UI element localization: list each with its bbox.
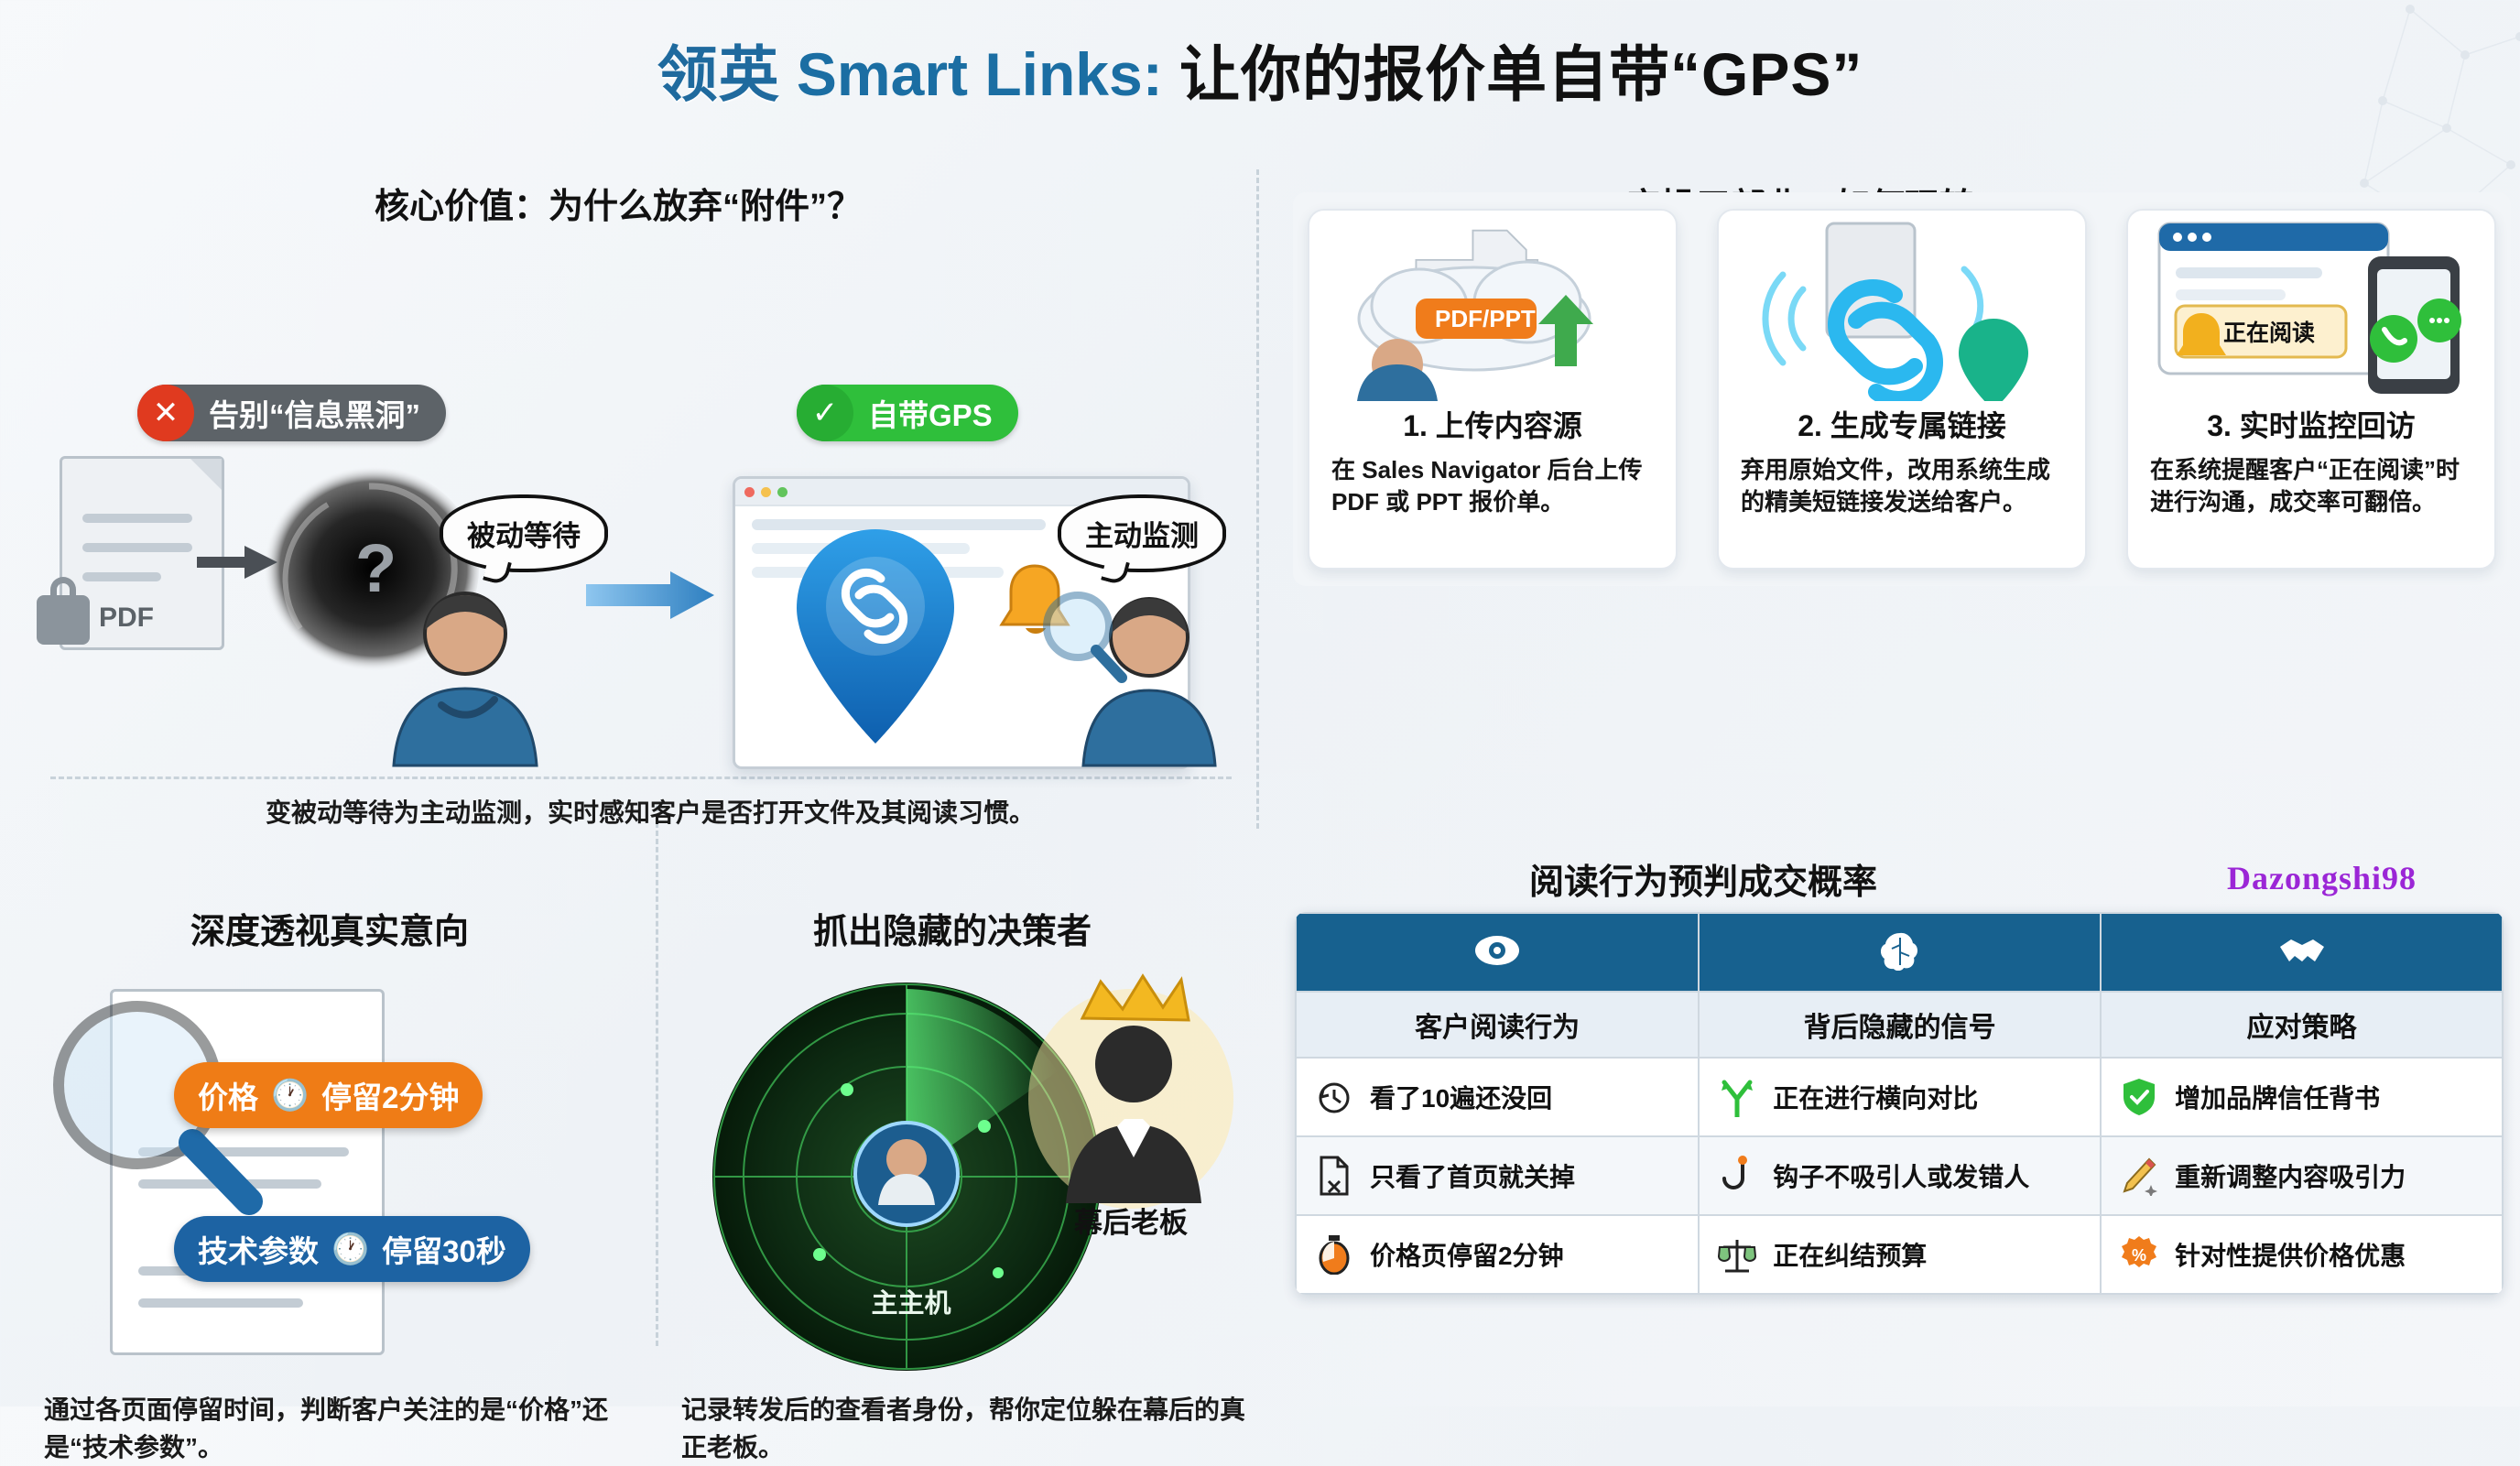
fork-path-icon — [1716, 1076, 1758, 1118]
step-3-illustration: 正在阅读 — [2128, 211, 2494, 401]
table-title: 阅读行为预判成交概率 — [1337, 853, 2069, 904]
cell-text: 看了10遍还没回 — [1370, 1079, 1552, 1115]
step-1-title: 1. 上传内容源 — [1309, 403, 1676, 445]
badge-built-in-gps: ✓ 自带GPS — [797, 385, 1018, 441]
radar-center-label: 主主机 — [792, 1282, 1030, 1320]
cell-text: 重新调整内容吸引力 — [2175, 1157, 2406, 1194]
gps-pin-link-icon — [787, 522, 971, 751]
reading-behavior-table: 客户阅读行为 背后隐藏的信号 应对策略 看了10遍还没回 正在进行横向对比 — [1295, 912, 2504, 1295]
speech-bubble-passive: 被动等待 — [440, 494, 608, 572]
pill-spec-dwell: 技术参数 🕐 停留30秒 — [174, 1216, 530, 1282]
balance-scale-icon — [1716, 1233, 1758, 1276]
clock-icon: 🕐 — [271, 1078, 309, 1113]
left-section-header: 核心价值：为什么放弃“附件”？ — [37, 178, 1200, 228]
document-fold-corner — [190, 459, 222, 490]
badge-bad-label: 告别“信息黑洞” — [194, 391, 420, 435]
chain-link-icon — [1719, 211, 2089, 401]
column-header-strategy: 应对策略 — [2101, 992, 2503, 1058]
step-1-illustration: PDF/PPT — [1309, 211, 1676, 401]
lock-icon — [37, 595, 90, 645]
panel-left-caption: 通过各页面停留时间，判断客户关注的是“价格”还是“技术参数”。 — [44, 1392, 621, 1466]
column-header-signal: 背后隐藏的信号 — [1699, 992, 2101, 1058]
table-label-header-row: 客户阅读行为 背后隐藏的信号 应对策略 — [1296, 992, 2503, 1058]
clock-icon: 🕐 — [331, 1232, 369, 1267]
table-row: 只看了首页就关掉 钩子不吸引人或发错人 重新调整内容吸引力 — [1296, 1136, 2503, 1215]
vertical-divider-main — [1256, 169, 1259, 829]
cell-text: 正在进行横向对比 — [1773, 1079, 1978, 1115]
watermark: Dazongshi98 — [2227, 859, 2417, 897]
step-3-title: 3. 实时监控回访 — [2128, 403, 2494, 445]
hidden-boss-illustration — [1026, 961, 1236, 1227]
right-column: 实操三部曲：如何玩转 Smart Links PDF/PPT 1. 上传内容源 … — [1282, 110, 2520, 1406]
badge-good-label: 自带GPS — [853, 391, 993, 435]
person-waiting-illustration — [357, 586, 568, 769]
column-header-behavior: 客户阅读行为 — [1296, 992, 1699, 1058]
arrow-transition-icon — [586, 568, 714, 623]
bell-alert-icon: 正在阅读 — [2128, 211, 2498, 401]
speech-bubble-active: 主动监测 — [1058, 494, 1226, 572]
title-brand-en: Smart Links: — [780, 40, 1179, 108]
step-card-1[interactable]: PDF/PPT 1. 上传内容源 在 Sales Navigator 后台上传 … — [1308, 209, 1678, 570]
table-row: 价格页停留2分钟 正在纠结预算 % 针对性提供价格优惠 — [1296, 1215, 2503, 1294]
step-2-title: 2. 生成专属链接 — [1719, 403, 2085, 445]
cell-text: 针对性提供价格优惠 — [2175, 1236, 2406, 1273]
panel-left-header: 深度透视真实意向 — [37, 903, 623, 953]
title-rest: 让你的报价单自带“GPS” — [1179, 40, 1863, 108]
step-card-2[interactable]: 2. 生成专属链接 弃用原始文件，改用系统生成的精美短链接发送给客户。 — [1717, 209, 2087, 570]
arrow-right-icon — [197, 540, 279, 584]
person-monitoring-illustration — [1039, 586, 1245, 769]
stopwatch-icon — [1313, 1233, 1355, 1276]
badge-information-blackhole: ✕ 告别“信息黑洞” — [137, 385, 446, 441]
cell-text: 钩子不吸引人或发错人 — [1773, 1157, 2029, 1194]
steps-container: PDF/PPT 1. 上传内容源 在 Sales Navigator 后台上传 … — [1293, 192, 2511, 586]
step-3-desc: 在系统提醒客户“正在阅读”时进行沟通，成交率可翻倍。 — [2128, 445, 2494, 518]
step-2-desc: 弃用原始文件，改用系统生成的精美短链接发送给客户。 — [1719, 445, 2085, 518]
percent-badge-icon: % — [2118, 1233, 2160, 1276]
boss-label: 幕后老板 — [1016, 1200, 1245, 1241]
title-brand-cn: 领英 — [657, 40, 780, 108]
panel-right-caption: 记录转发后的查看者身份，帮你定位躲在幕后的真正老板。 — [681, 1392, 1249, 1466]
pill-price-metric: 停留2分钟 — [321, 1073, 459, 1117]
cloud-upload-icon: PDF/PPT — [1309, 211, 1679, 401]
pdf-label: PDF — [99, 603, 154, 634]
cell-text: 正在纠结预算 — [1773, 1236, 1927, 1273]
pill-spec-metric: 停留30秒 — [382, 1227, 506, 1271]
step-2-illustration — [1719, 211, 2085, 401]
step-card-3[interactable]: 正在阅读 3. 实时监控回访 在系统提醒客户“正在阅读”时进行沟通，成交率可翻倍… — [2126, 209, 2496, 570]
cell-text: 价格页停留2分钟 — [1370, 1236, 1564, 1273]
pill-price-label: 价格 — [198, 1073, 258, 1117]
table-row: 看了10遍还没回 正在进行横向对比 增加品牌信任背书 — [1296, 1058, 2503, 1136]
step-1-desc: 在 Sales Navigator 后台上传 PDF 或 PPT 报价单。 — [1309, 445, 1676, 518]
left-caption: 变被动等待为主动监测，实时感知客户是否打开文件及其阅读习惯。 — [165, 795, 1135, 832]
history-clock-icon — [1313, 1076, 1355, 1118]
brain-icon — [1699, 913, 2101, 992]
eye-icon — [1296, 913, 1699, 992]
left-column: 核心价值：为什么放弃“附件”？ ✕ 告别“信息黑洞” ✓ 自带GPS PDF ? — [0, 110, 1255, 1406]
handshake-icon — [2101, 913, 2503, 992]
pill-price-dwell: 价格 🕐 停留2分钟 — [174, 1062, 483, 1128]
pencil-sparkle-icon — [2118, 1155, 2160, 1197]
cross-icon: ✕ — [137, 385, 194, 441]
step-1-badge: PDF/PPT — [1435, 305, 1536, 332]
table-icon-header-row — [1296, 913, 2503, 992]
panel-right-header: 抓出隐藏的决策者 — [678, 903, 1227, 953]
fish-hook-icon — [1716, 1155, 1758, 1197]
pill-spec-label: 技术参数 — [198, 1227, 319, 1271]
svg-text:%: % — [2132, 1246, 2146, 1265]
cell-text: 只看了首页就关掉 — [1370, 1157, 1575, 1194]
step-3-badge: 正在阅读 — [2223, 320, 2315, 346]
cell-text: 增加品牌信任背书 — [2175, 1079, 2380, 1115]
check-icon: ✓ — [797, 385, 853, 441]
page-title: 领英 Smart Links: 让你的报价单自带“GPS” — [0, 26, 2520, 114]
document-x-icon — [1313, 1155, 1355, 1197]
shield-check-icon — [2118, 1076, 2160, 1118]
